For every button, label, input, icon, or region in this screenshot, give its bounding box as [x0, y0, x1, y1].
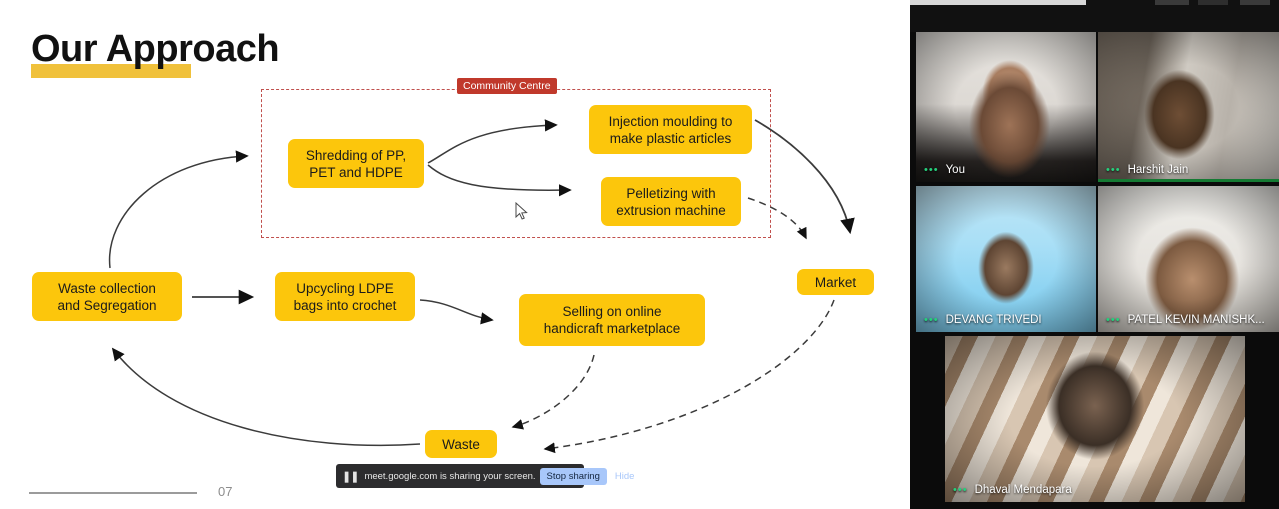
- mic-dots-icon: •••: [924, 165, 939, 176]
- mic-dots-icon: •••: [924, 315, 939, 326]
- mic-dots-icon: •••: [1106, 315, 1121, 326]
- node-injection-line2: make plastic articles: [610, 131, 732, 146]
- hide-button[interactable]: Hide: [609, 468, 641, 485]
- node-upcycling-line1: Upcycling LDPE: [296, 281, 394, 296]
- node-injection-line1: Injection moulding to: [609, 114, 733, 129]
- participant-tile-patel-kevin[interactable]: ••• PATEL KEVIN MANISHK...: [1098, 186, 1279, 332]
- shared-slide: Our Approach Community Centre: [0, 0, 910, 509]
- participant-name: Dhaval Mendapara: [975, 484, 1072, 496]
- node-pelletizing-line2: extrusion machine: [616, 203, 726, 218]
- node-waste-collection-line1: Waste collection: [58, 281, 156, 296]
- participant-name-row: ••• Harshit Jain: [1098, 158, 1188, 182]
- node-shredding: Shredding of PP, PET and HDPE: [288, 139, 424, 188]
- participant-tile-devang-trivedi[interactable]: ••• DEVANG TRIVEDI: [916, 186, 1096, 332]
- node-shredding-line1: Shredding of PP,: [306, 148, 406, 163]
- participant-name-row: ••• PATEL KEVIN MANISHK...: [1098, 308, 1265, 332]
- node-market: Market: [797, 269, 874, 295]
- participant-name: Harshit Jain: [1128, 164, 1189, 176]
- node-selling-online: Selling on online handicraft marketplace: [519, 294, 705, 346]
- pause-icon[interactable]: ❚❚: [342, 470, 358, 483]
- screen-root: Our Approach Community Centre: [0, 0, 1279, 509]
- node-waste: Waste: [425, 430, 497, 458]
- node-pelletizing: Pelletizing with extrusion machine: [601, 177, 741, 226]
- node-pelletizing-line1: Pelletizing with: [626, 186, 715, 201]
- participant-rail: ••• You ••• Harshit Jain ••• DEVANG TRIV…: [910, 0, 1279, 509]
- participant-name: PATEL KEVIN MANISHK...: [1128, 314, 1265, 326]
- community-centre-label: Community Centre: [457, 78, 557, 94]
- participant-name-row: ••• DEVANG TRIVEDI: [916, 308, 1042, 332]
- node-shredding-line2: PET and HDPE: [309, 165, 403, 180]
- node-waste-collection: Waste collection and Segregation: [32, 272, 182, 321]
- participant-name-row: ••• Dhaval Mendapara: [945, 478, 1072, 502]
- stop-sharing-button[interactable]: Stop sharing: [540, 468, 607, 485]
- node-selling-line1: Selling on online: [562, 304, 661, 319]
- participant-tile-dhaval-mendapara[interactable]: ••• Dhaval Mendapara: [945, 336, 1245, 502]
- participant-name: You: [946, 164, 965, 176]
- rail-top-strip: [910, 0, 1279, 32]
- node-upcycling-ldpe: Upcycling LDPE bags into crochet: [275, 272, 415, 321]
- participant-tile-harshit-jain[interactable]: ••• Harshit Jain: [1098, 32, 1279, 182]
- mouse-cursor-icon: [515, 202, 529, 222]
- node-waste-collection-line2: and Segregation: [57, 298, 156, 313]
- node-selling-line2: handicraft marketplace: [544, 321, 681, 336]
- participant-name-row: ••• You: [916, 158, 965, 182]
- node-injection-moulding: Injection moulding to make plastic artic…: [589, 105, 752, 154]
- participant-tile-you[interactable]: ••• You: [916, 32, 1096, 182]
- participant-name: DEVANG TRIVEDI: [946, 314, 1042, 326]
- mic-dots-icon: •••: [953, 485, 968, 496]
- screen-share-bar[interactable]: ❚❚ meet.google.com is sharing your scree…: [336, 464, 584, 488]
- node-upcycling-line2: bags into crochet: [294, 298, 397, 313]
- mic-dots-icon: •••: [1106, 165, 1121, 176]
- share-status-text: meet.google.com is sharing your screen.: [364, 471, 535, 482]
